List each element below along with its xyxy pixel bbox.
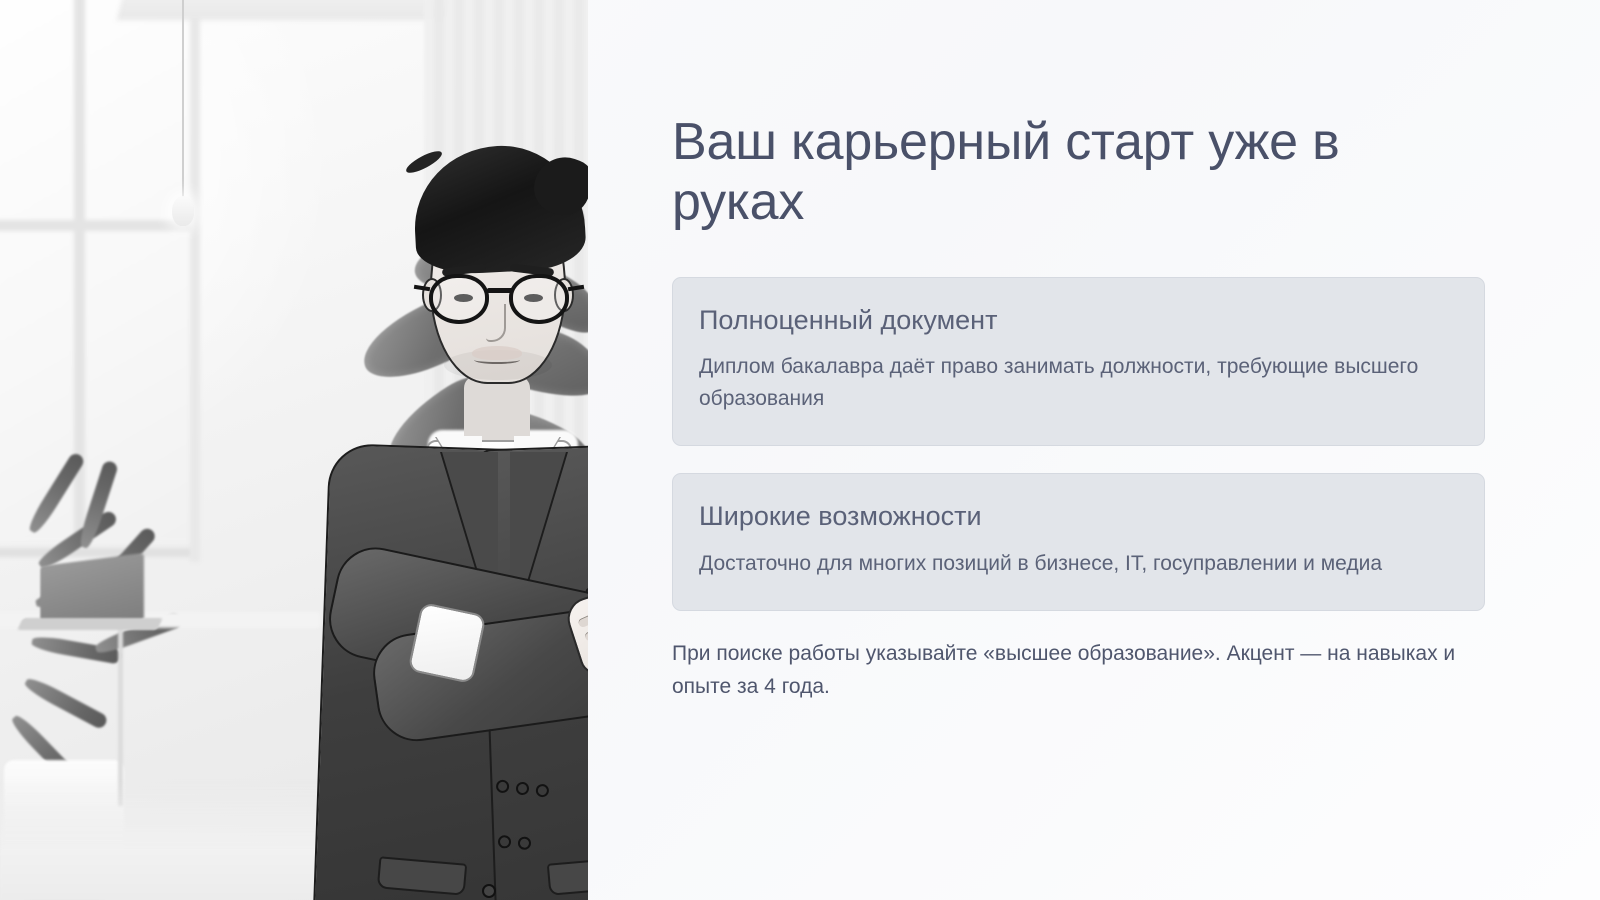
hair [411, 142, 587, 277]
businessman-figure [286, 118, 588, 900]
laptop-icon [40, 553, 144, 627]
feature-card-2-text: Достаточно для многих позиций в бизнесе,… [699, 548, 1458, 580]
desk-leg [118, 626, 123, 806]
window-icon [0, 0, 193, 542]
feature-card-1-text: Диплом бакалавра даёт право занимать дол… [699, 351, 1458, 415]
feature-card-1: Полноценный документ Диплом бакалавра да… [672, 277, 1485, 447]
ceiling-beam [117, 0, 453, 20]
lens-right [509, 274, 569, 324]
pendant-lamp-cord [182, 0, 184, 200]
hero-illustration [0, 0, 588, 900]
slide-root: Ваш карьерный старт уже в руках Полноцен… [0, 0, 1600, 900]
mouth [474, 356, 520, 364]
feature-card-2: Широкие возможности Достаточно для многи… [672, 473, 1485, 611]
nose [486, 304, 506, 342]
pendant-lamp-icon [172, 196, 194, 226]
window-frame [190, 0, 200, 562]
lens-left [429, 274, 489, 324]
sleeve-buttons-lower [498, 835, 532, 850]
page-title: Ваш карьерный старт уже в руках [672, 112, 1472, 233]
glasses-temple-right [568, 285, 584, 291]
laptop-base [17, 618, 163, 630]
glasses-bridge [487, 288, 513, 293]
feature-card-1-title: Полноценный документ [699, 304, 1458, 338]
footnote-text: При поиске работы указывайте «высшее обр… [672, 638, 1472, 704]
jacket-button [482, 884, 496, 898]
feature-card-2-title: Широкие возможности [699, 500, 1458, 534]
content-panel: Ваш карьерный старт уже в руках Полноцен… [588, 0, 1600, 900]
